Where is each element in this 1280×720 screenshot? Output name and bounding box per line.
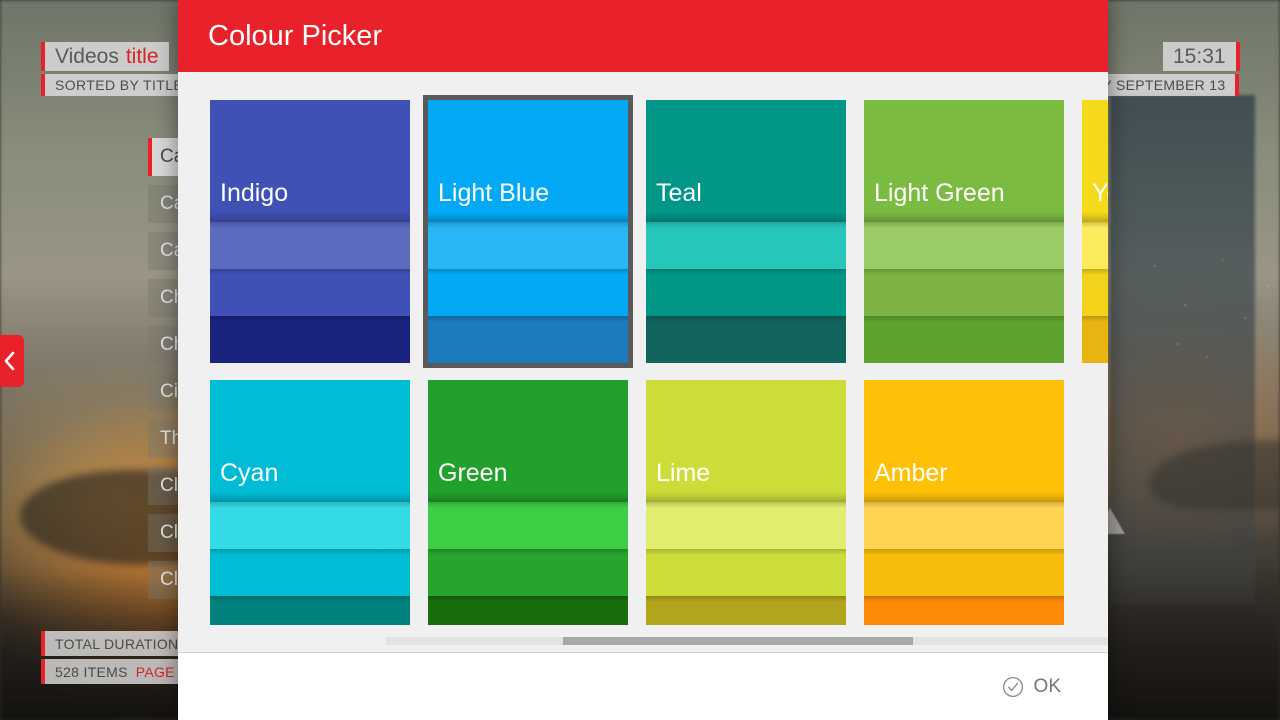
colour-swatch-label: Lime <box>656 459 710 488</box>
colour-swatch-shade[interactable] <box>428 316 628 363</box>
colour-swatch-shade[interactable] <box>864 222 1064 269</box>
osd-title-accent: title <box>126 45 159 69</box>
colour-swatch-shade[interactable] <box>428 549 628 596</box>
colour-swatch-label: Amber <box>874 459 948 488</box>
colour-swatch[interactable]: Light Green <box>859 95 1069 368</box>
colour-swatch[interactable]: Lime <box>641 375 851 625</box>
horizontal-scrollbar-track[interactable] <box>386 637 1108 645</box>
colour-swatch-label: Indigo <box>220 179 288 208</box>
colour-swatch-shade[interactable] <box>646 502 846 549</box>
colour-swatch-shade[interactable] <box>646 316 846 363</box>
osd-window-title: Videos title <box>41 42 169 71</box>
colour-swatch[interactable]: Amber <box>859 375 1069 625</box>
colour-swatch-shade[interactable] <box>210 502 410 549</box>
colour-swatch-label: Green <box>438 459 507 488</box>
colour-swatch[interactable]: Teal <box>641 95 851 368</box>
colour-swatch-label: Yellow <box>1092 179 1108 208</box>
osd-items-label: 528 ITEMS <box>55 664 128 680</box>
dialog-title: Colour Picker <box>208 20 382 53</box>
colour-swatch-shade[interactable] <box>210 549 410 596</box>
colour-picker-dialog: Colour Picker IndigoLight BlueTealLight … <box>178 0 1108 720</box>
colour-swatch[interactable]: Light Blue <box>423 95 633 368</box>
dialog-header: Colour Picker <box>178 0 1108 72</box>
colour-swatch-main: Yellow <box>1082 100 1108 222</box>
colour-swatch-shade[interactable] <box>1082 316 1108 363</box>
colour-swatch-shade[interactable] <box>864 316 1064 363</box>
colour-swatch-main: Cyan <box>210 380 410 502</box>
colour-swatch-main: Light Green <box>864 100 1064 222</box>
ok-button[interactable]: OK <box>1002 676 1061 698</box>
colour-swatch-shade[interactable] <box>428 222 628 269</box>
colour-swatch-shade[interactable] <box>646 269 846 316</box>
colour-swatch-shade[interactable] <box>210 269 410 316</box>
colour-swatch-shade[interactable] <box>428 502 628 549</box>
colour-swatch[interactable]: Green <box>423 375 633 625</box>
screen: Videos title SORTED BY TITLE 15:31 RDAY … <box>0 0 1280 720</box>
colour-swatch-shade[interactable] <box>864 269 1064 316</box>
colour-swatch-label: Light Blue <box>438 179 549 208</box>
osd-sort-label: SORTED BY TITLE <box>41 74 193 96</box>
colour-swatch-shade[interactable] <box>1082 222 1108 269</box>
colour-swatch-shade[interactable] <box>210 316 410 363</box>
colour-swatch-shade[interactable] <box>646 222 846 269</box>
colour-swatch-label: Teal <box>656 179 702 208</box>
colour-swatch[interactable]: Indigo <box>205 95 415 368</box>
chevron-left-icon <box>3 351 16 371</box>
colour-grid-viewport: IndigoLight BlueTealLight GreenYellowBlu… <box>178 72 1108 625</box>
colour-swatch[interactable]: Cyan <box>205 375 415 625</box>
back-button[interactable] <box>0 335 24 387</box>
colour-swatch-main: Teal <box>646 100 846 222</box>
colour-swatch-shade[interactable] <box>428 269 628 316</box>
osd-title-main: Videos <box>55 45 119 69</box>
colour-swatch-main: Amber <box>864 380 1064 502</box>
colour-swatch-shade[interactable] <box>864 549 1064 596</box>
osd-clock: 15:31 <box>1163 42 1240 71</box>
colour-swatch-shade[interactable] <box>646 549 846 596</box>
background-sparks <box>1140 240 1280 370</box>
colour-swatch-shade[interactable] <box>210 222 410 269</box>
colour-swatch[interactable]: Yellow <box>1077 95 1108 368</box>
colour-grid: IndigoLight BlueTealLight GreenYellowBlu… <box>205 95 1108 625</box>
ok-button-label: OK <box>1034 676 1061 698</box>
colour-swatch-shade[interactable] <box>428 596 628 625</box>
colour-swatch-label: Cyan <box>220 459 278 488</box>
colour-swatch-main: Green <box>428 380 628 502</box>
colour-swatch-main: Light Blue <box>428 100 628 222</box>
colour-swatch-main: Indigo <box>210 100 410 222</box>
dialog-body: IndigoLight BlueTealLight GreenYellowBlu… <box>178 72 1108 653</box>
colour-swatch-shade[interactable] <box>210 596 410 625</box>
check-circle-icon <box>1002 676 1024 698</box>
colour-swatch-shade[interactable] <box>1082 269 1108 316</box>
horizontal-scrollbar-thumb[interactable] <box>563 637 913 645</box>
colour-swatch-shade[interactable] <box>864 596 1064 625</box>
dialog-footer: OK <box>178 653 1108 720</box>
colour-swatch-main: Lime <box>646 380 846 502</box>
colour-swatch-shade[interactable] <box>646 596 846 625</box>
osd-duration-label: TOTAL DURATION <box>55 636 178 652</box>
colour-swatch-shade[interactable] <box>864 502 1064 549</box>
colour-swatch-label: Light Green <box>874 179 1005 208</box>
